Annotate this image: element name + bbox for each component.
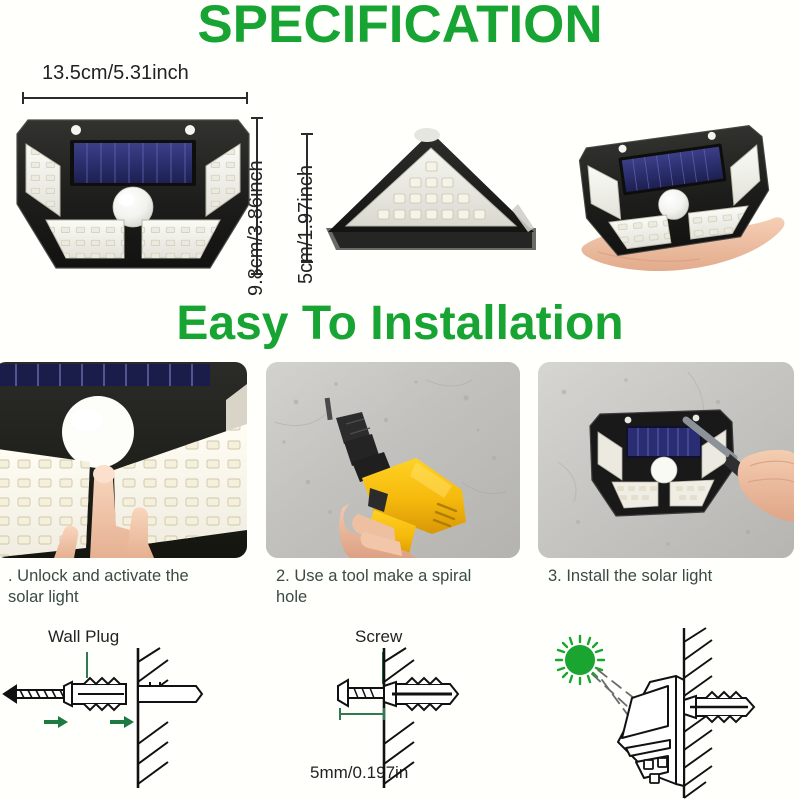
width-dimension-label: 13.5cm/5.31inch <box>42 62 189 85</box>
installation-title: Easy To Installation <box>0 295 800 353</box>
specification-title: SPECIFICATION <box>0 0 800 56</box>
width-dimension-line <box>22 97 248 99</box>
hand-held-view-figure <box>568 126 792 284</box>
cordless-drill-photo <box>266 362 520 558</box>
front-view-figure <box>14 108 252 280</box>
step-2-caption: 2. Use a tool make a spiral hole <box>276 566 516 608</box>
wall-plug-label: Wall Plug <box>48 627 119 647</box>
product-spec-infographic: SPECIFICATION 13.5cm/5.31inch 9.8cm/3.86… <box>0 0 800 800</box>
mounted-light-sunlight-diagram <box>540 622 796 798</box>
screw-label: Screw <box>355 627 402 647</box>
finger-pressing-sensor-photo <box>0 362 247 558</box>
step-1-caption: . Unlock and activate the solar light <box>8 566 238 608</box>
sun-icon <box>556 636 604 684</box>
step-3-caption: 3. Install the solar light <box>548 566 794 587</box>
wall-plug-insertion-diagram <box>0 648 270 788</box>
side-view-figure <box>322 128 544 260</box>
screw-into-plug-diagram <box>300 648 520 788</box>
mounting-light-on-wall-photo <box>538 362 794 558</box>
depth-dimension-label: 5cm/1.97inch <box>295 165 318 284</box>
